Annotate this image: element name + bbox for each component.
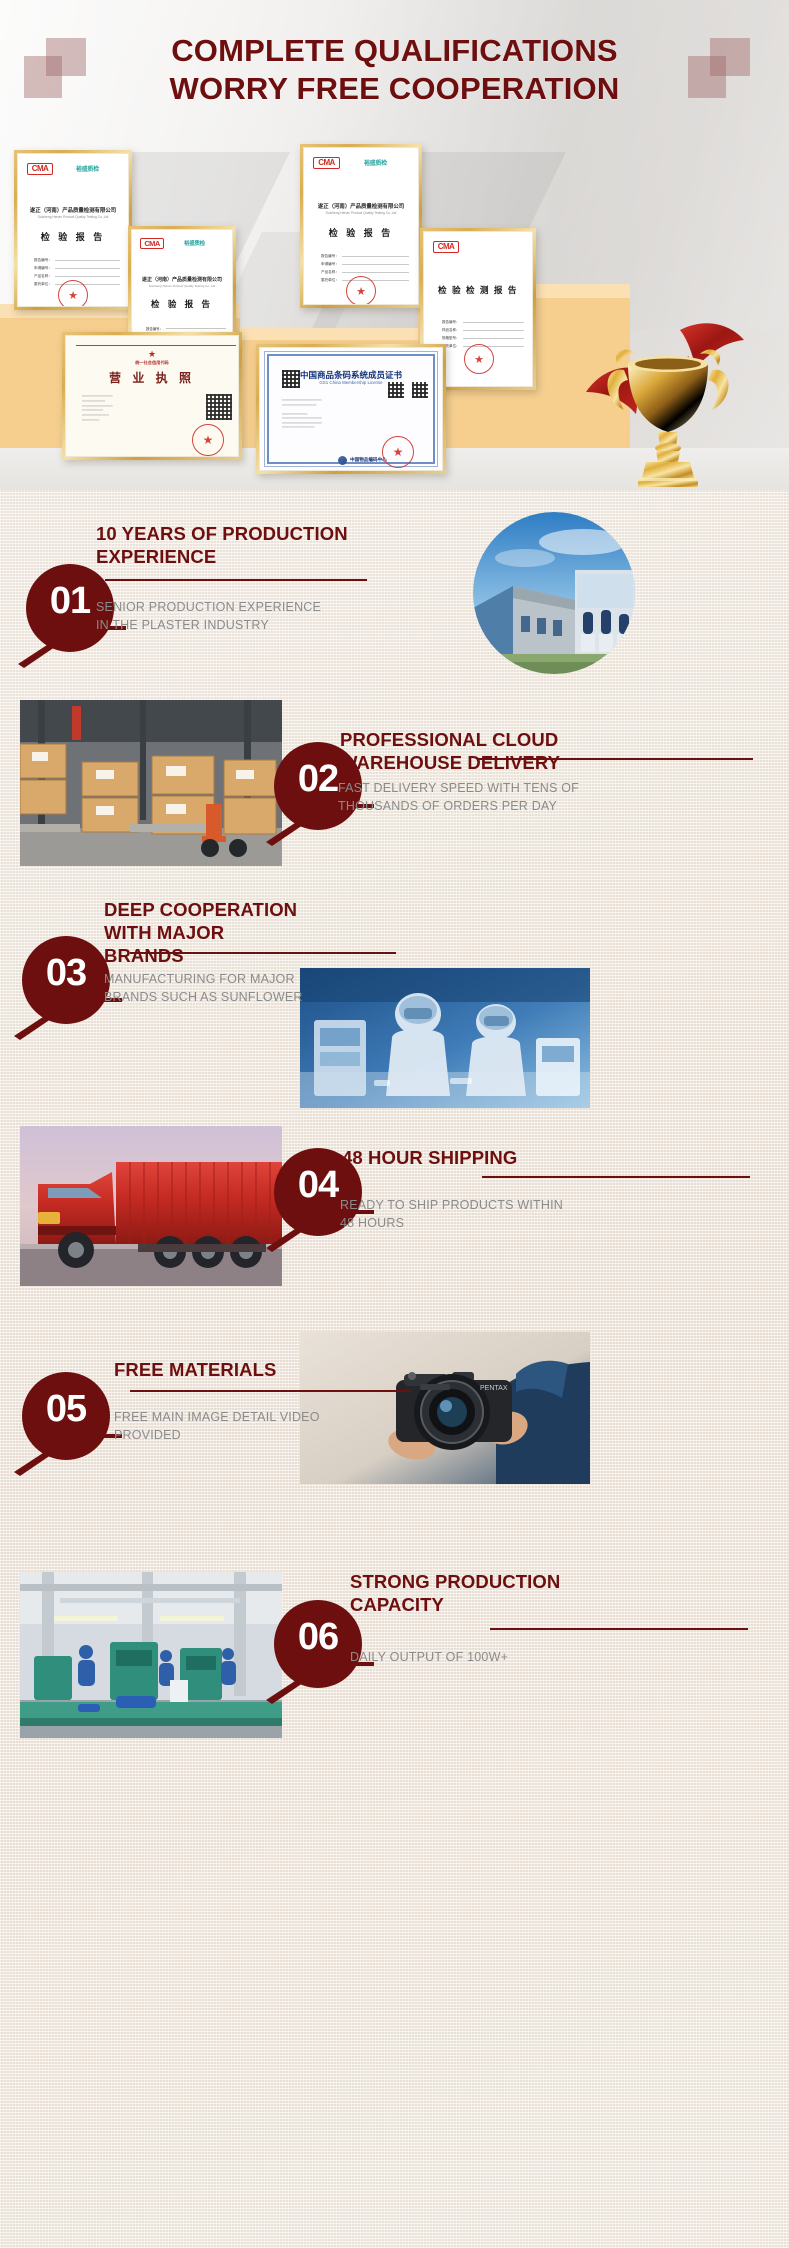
cma-logo-icon: CMA bbox=[433, 241, 459, 253]
cma-logo-icon: CMA bbox=[140, 238, 164, 249]
certificate-field-label: 产品名称： bbox=[321, 270, 339, 275]
certificate-field: 产品名称： bbox=[34, 274, 120, 279]
certificate-field-label: 委托单位： bbox=[34, 282, 52, 287]
certificate-title: 检 验 报 告 bbox=[132, 298, 232, 310]
certificate-field-label: 样品名称： bbox=[442, 328, 460, 333]
testing-lab-logo: 裕盛质检 bbox=[184, 239, 205, 247]
certificate-inner: ★ 统一社会信用代码 营 业 执 照 ━━━━━━━━━━━━━━━━━━━━━… bbox=[65, 335, 239, 457]
feature-row: 04 48 HOUR SHIPPING READY TO SHIP PRODUC… bbox=[0, 1090, 789, 1310]
page-title: COMPLETE QUALIFICATIONS WORRY FREE COOPE… bbox=[0, 32, 789, 108]
feature-image-04 bbox=[20, 1126, 282, 1286]
certificate-card: CMA 裕盛质检 遂正（河南）产品质量检测有限公司 Suizheng Henan… bbox=[300, 144, 422, 308]
divider bbox=[76, 345, 236, 346]
seal-star-icon: ★ bbox=[68, 289, 78, 302]
feature-title-04: 48 HOUR SHIPPING bbox=[342, 1146, 622, 1169]
qr-code-icon bbox=[206, 394, 232, 420]
feature-title-03: DEEP COOPERATION WITH MAJOR BRANDS bbox=[104, 898, 304, 967]
certificate-field-label: 报告编号： bbox=[442, 320, 460, 325]
testing-lab-logo: 裕盛质检 bbox=[76, 164, 99, 173]
certificate-field: 报告编号： bbox=[321, 254, 409, 259]
certificate-field-label: 规格型号： bbox=[442, 336, 460, 341]
pedestal-top bbox=[240, 328, 418, 340]
certificate-field-line bbox=[342, 272, 409, 273]
certificate-field-line bbox=[55, 276, 120, 277]
certificate-display-stage: CMA 裕盛质检 遂正（河南）产品质量检测有限公司 Suizheng Henan… bbox=[0, 128, 789, 490]
certificate-title: 检 验 报 告 bbox=[18, 230, 128, 243]
certificate-field: 报告编号： bbox=[34, 258, 120, 263]
certificate-field-line bbox=[342, 264, 409, 265]
certificate-field-label: 报告编号： bbox=[146, 326, 163, 331]
cma-logo-icon: CMA bbox=[313, 157, 340, 169]
certificate-field-line bbox=[463, 322, 525, 323]
feature-row: 03 DEEP COOPERATION WITH MAJOR BRANDS MA… bbox=[0, 870, 789, 1100]
feature-image-06 bbox=[20, 1572, 282, 1738]
certificate-field-line bbox=[342, 256, 409, 257]
seal-star-icon: ★ bbox=[393, 445, 404, 459]
certificate-card: ★ 统一社会信用代码 营 业 执 照 ━━━━━━━━━━━━━━━━━━━━━… bbox=[62, 332, 242, 460]
issuer-logo-icon bbox=[338, 456, 347, 465]
certificate-field: 样品名称： bbox=[442, 328, 524, 333]
feature-image-01 bbox=[473, 512, 635, 674]
feature-divider-04 bbox=[482, 1176, 750, 1178]
certificate-field-line bbox=[55, 260, 120, 261]
certificate-seal: ★ bbox=[58, 280, 88, 307]
feature-divider-05 bbox=[130, 1390, 410, 1392]
feature-image-02 bbox=[20, 700, 282, 866]
certificate-header-cn: 统一社会信用代码 bbox=[66, 360, 238, 366]
feature-desc-line1-02: FAST DELIVERY SPEED WITH TENS OF bbox=[338, 779, 638, 797]
certificate-field-line bbox=[463, 330, 525, 331]
feature-desc-line2-03: BRANDS SUCH AS SUNFLOWER bbox=[104, 988, 354, 1006]
feature-row: PENTAX 05 FREE MATERIALS FREE MAIN IMAGE… bbox=[0, 1310, 789, 1540]
certificate-field-line bbox=[463, 338, 525, 339]
certificate-field-label: 申请编号： bbox=[321, 262, 339, 267]
feature-row: 01 10 YEARS OF PRODUCTION EXPERIENCE SEN… bbox=[0, 490, 789, 705]
feature-divider-02 bbox=[477, 758, 753, 760]
certificate-seal: ★ bbox=[382, 436, 414, 468]
feature-title-06: STRONG PRODUCTION CAPACITY bbox=[350, 1570, 650, 1616]
feature-desc-line1-03: MANUFACTURING FOR MAJOR bbox=[104, 970, 354, 988]
testing-lab-logo: 裕盛质检 bbox=[364, 158, 387, 167]
certificate-field-label: 报告编号： bbox=[34, 258, 52, 263]
certificate-field-label: 申请编号： bbox=[34, 266, 52, 271]
certificate-org-cn: 遂正（河南）产品质量检测有限公司 bbox=[132, 276, 232, 283]
certificate-card: 中国商品条码系统成员证书 GS1 China Membership Licens… bbox=[256, 344, 446, 474]
page-title-line-1: COMPLETE QUALIFICATIONS bbox=[0, 32, 789, 70]
certificate-seal: ★ bbox=[464, 344, 494, 374]
feature-desc-line2-04: 48 HOURS bbox=[340, 1214, 630, 1232]
feature-divider-03 bbox=[130, 952, 396, 954]
feature-title-05: FREE MATERIALS bbox=[114, 1358, 354, 1381]
certificate-seal: ★ bbox=[346, 276, 376, 305]
svg-text:PENTAX: PENTAX bbox=[480, 1385, 508, 1392]
feature-desc-line1-06: DAILY OUTPUT OF 100W+ bbox=[350, 1648, 640, 1666]
feature-desc-line1-04: READY TO SHIP PRODUCTS WITHIN bbox=[340, 1196, 630, 1214]
features-section: 01 10 YEARS OF PRODUCTION EXPERIENCE SEN… bbox=[0, 490, 789, 2248]
feature-desc-line1-05: FREE MAIN IMAGE DETAIL VIDEO bbox=[114, 1408, 384, 1426]
certificate-seal: ★ bbox=[192, 424, 224, 456]
certificate-body-text: ━━━━━━━━━━━━━━━━━━━━━━━━━━━━━━━━━━━━━━━━… bbox=[82, 394, 194, 423]
certificate-body-text: ━━━━━━━━━━━━━━━━━━━━━━━━━━━━━━━━━━━━━━━━… bbox=[282, 398, 402, 430]
certificate-inner: CMA 裕盛质检 遂正（河南）产品质量检测有限公司 Suizheng Henan… bbox=[17, 153, 129, 307]
certificate-title: 检 验 报 告 bbox=[304, 226, 418, 239]
certificate-org-en: Suizheng Henan Product Quality Testing C… bbox=[18, 215, 128, 219]
certificate-field: 产品名称： bbox=[321, 270, 409, 275]
page-title-line-2: WORRY FREE COOPERATION bbox=[0, 70, 789, 108]
certificate-org-en: Suizheng Henan Product Quality Testing C… bbox=[304, 211, 418, 215]
certificate-field: 申请编号： bbox=[321, 262, 409, 267]
certificate-title-en: GS1 China Membership License bbox=[260, 380, 442, 385]
certificate-org-cn: 遂正（河南）产品质量检测有限公司 bbox=[304, 202, 418, 210]
certificate-title: 营 业 执 照 bbox=[66, 369, 238, 386]
feature-title-02: PROFESSIONAL CLOUD WAREHOUSE DELIVERY bbox=[340, 728, 640, 774]
certificate-inner: 中国商品条码系统成员证书 GS1 China Membership Licens… bbox=[259, 347, 443, 471]
feature-row: 06 STRONG PRODUCTION CAPACITY DAILY OUTP… bbox=[0, 1542, 789, 1762]
national-emblem-icon: ★ bbox=[66, 349, 238, 360]
feature-desc-line1-01: SENIOR PRODUCTION EXPERIENCE bbox=[96, 598, 386, 616]
seal-star-icon: ★ bbox=[203, 433, 214, 447]
certificate-field-label: 产品名称： bbox=[34, 274, 52, 279]
certificate-title: 检 验 检 测 报 告 bbox=[424, 284, 532, 296]
certificate-org-en: Suizheng Henan Product Quality Testing C… bbox=[132, 284, 232, 288]
certificate-field-label: 报告编号： bbox=[321, 254, 339, 259]
cma-logo-icon: CMA bbox=[27, 163, 53, 175]
hero-banner: COMPLETE QUALIFICATIONS WORRY FREE COOPE… bbox=[0, 0, 789, 490]
feature-number-05: 05 bbox=[24, 1390, 108, 1428]
feature-title-01: 10 YEARS OF PRODUCTION EXPERIENCE bbox=[96, 522, 366, 568]
feature-divider-01 bbox=[105, 579, 367, 581]
certificate-org-cn: 遂正（河南）产品质量检测有限公司 bbox=[18, 206, 128, 214]
certificate-card: CMA 裕盛质检 遂正（河南）产品质量检测有限公司 Suizheng Henan… bbox=[14, 150, 132, 310]
seal-star-icon: ★ bbox=[474, 353, 484, 366]
feature-desc-line2-02: THOUSANDS OF ORDERS PER DAY bbox=[338, 797, 638, 815]
trophy-icon bbox=[584, 296, 752, 490]
feature-desc-line2-01: IN THE PLASTER INDUSTRY bbox=[96, 616, 386, 634]
certificate-field: 报告编号： bbox=[146, 326, 226, 331]
certificate-field-line bbox=[55, 268, 120, 269]
certificate-inner: CMA 裕盛质检 遂正（河南）产品质量检测有限公司 Suizheng Henan… bbox=[303, 147, 419, 305]
certificate-field: 报告编号： bbox=[442, 320, 524, 325]
feature-number-06: 06 bbox=[276, 1618, 360, 1656]
feature-desc-line2-05: PROVIDED bbox=[114, 1426, 384, 1444]
seal-star-icon: ★ bbox=[356, 285, 366, 298]
certificate-field-line bbox=[166, 328, 226, 329]
certificate-issuer: 中国物品编码中心 bbox=[350, 457, 387, 463]
certificate-field: 申请编号： bbox=[34, 266, 120, 271]
feature-number-03: 03 bbox=[24, 954, 108, 992]
certificate-field: 规格型号： bbox=[442, 336, 524, 341]
certificate-field-label: 委托单位： bbox=[321, 278, 339, 283]
feature-divider-06 bbox=[490, 1628, 748, 1630]
